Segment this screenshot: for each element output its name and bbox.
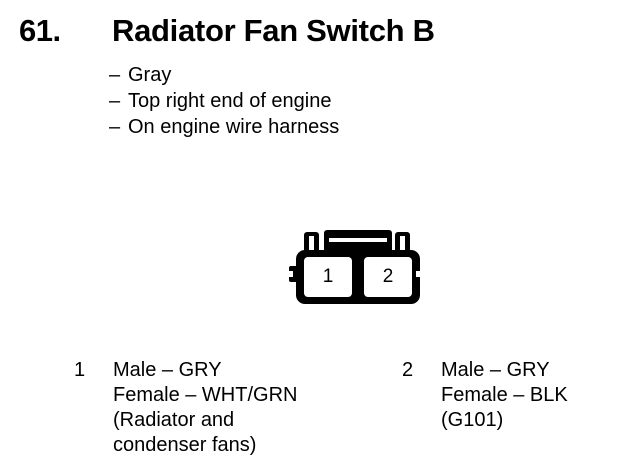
description-item-label: On engine wire harness [128,114,339,140]
pin-detail-line: Male – GRY [113,358,297,383]
connector-side-notch-cut-left [288,271,293,277]
pin-detail-line: condenser fans) [113,433,297,458]
connector-cavity-1: 1 [304,257,352,297]
description-list: –Gray –Top right end of engine –On engin… [109,62,589,140]
pin-detail-line: Male – GRY [441,358,568,383]
connector-body: 1 2 [296,250,420,304]
dash-bullet-icon: – [109,114,128,140]
pin-detail-line: (G101) [441,408,568,433]
pin-number: 2 [402,358,413,383]
description-item: –Gray [109,62,589,88]
pin-detail-lines: Male – GRY Female – BLK (G101) [441,358,568,433]
description-item-label: Top right end of engine [128,88,332,114]
pin-detail-line: (Radiator and [113,408,297,433]
pin-legend: 1 Male – GRY Female – WHT/GRN (Radiator … [0,358,624,474]
description-item: –On engine wire harness [109,114,589,140]
description-item: –Top right end of engine [109,88,589,114]
pin-number: 1 [74,358,85,383]
pin-detail-lines: Male – GRY Female – WHT/GRN (Radiator an… [113,358,297,458]
page-title: Radiator Fan Switch B [112,14,435,48]
description-item-label: Gray [128,62,171,88]
connector-side-notch-cut-right [416,271,421,277]
connector-latch-slot [329,238,387,242]
connector-cavity-2: 2 [364,257,412,297]
pin-detail-line: Female – WHT/GRN [113,383,297,408]
dash-bullet-icon: – [109,88,128,114]
pin-detail-line: Female – BLK [441,383,568,408]
connector-number: 61. [19,14,61,48]
connector-diagram: 1 2 [283,228,425,308]
dash-bullet-icon: – [109,62,128,88]
